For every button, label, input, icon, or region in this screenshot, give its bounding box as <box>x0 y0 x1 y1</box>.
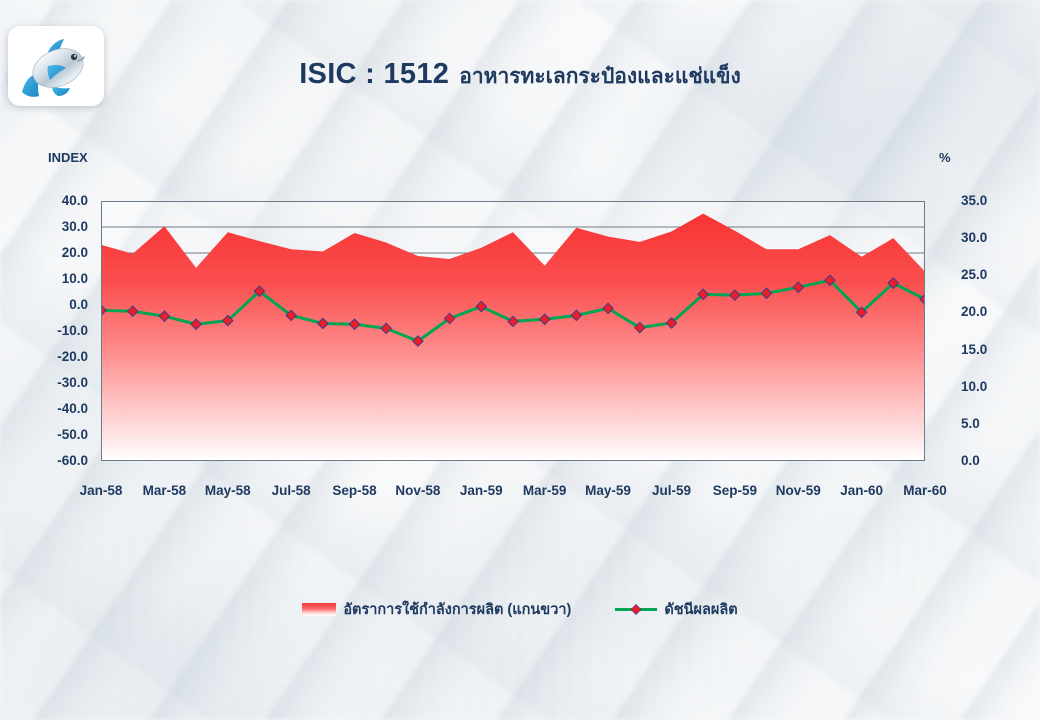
y-tick-label: 40.0 <box>8 194 88 208</box>
y2-tick-label: 20.0 <box>961 305 1031 319</box>
chart-svg <box>101 201 925 461</box>
y-tick-label: 30.0 <box>8 220 88 234</box>
title-name: อาหารทะเลกระป๋องและแช่แข็ง <box>459 65 741 88</box>
y-tick-label: -30.0 <box>8 376 88 390</box>
y2-tick-label: 35.0 <box>961 194 1031 208</box>
y2-tick-label: 10.0 <box>961 380 1031 394</box>
y-tick-label: 0.0 <box>8 298 88 312</box>
legend-item-production-index[interactable]: ดัชนีผลผลิต <box>615 598 737 621</box>
legend-label-capacity: อัตราการใช้กำลังการผลิต (แกนขวา) <box>343 598 571 621</box>
chart-legend: อัตราการใช้กำลังการผลิต (แกนขวา) ดัชนีผล… <box>0 598 1040 621</box>
y-tick-label: 20.0 <box>8 246 88 260</box>
x-tick-label: Jul-59 <box>652 483 691 498</box>
chart-plot-area <box>101 201 925 461</box>
title-code: ISIC : 1512 <box>299 58 449 90</box>
legend-label-production-index: ดัชนีผลผลิต <box>664 598 737 621</box>
y2-tick-label: 30.0 <box>961 231 1031 245</box>
right-axis-caption: % <box>939 150 951 165</box>
x-tick-label: Mar-60 <box>903 483 947 498</box>
area-swatch-icon <box>302 603 336 616</box>
y2-tick-label: 0.0 <box>961 454 1031 468</box>
x-tick-label: Mar-59 <box>523 483 567 498</box>
y-tick-label: 10.0 <box>8 272 88 286</box>
page-title: ISIC : 1512อาหารทะเลกระป๋องและแช่แข็ง <box>140 58 900 93</box>
x-tick-label: May-58 <box>205 483 251 498</box>
y-tick-label: -60.0 <box>8 454 88 468</box>
chart-page: ISIC : 1512อาหารทะเลกระป๋องและแช่แข็ง IN… <box>0 0 1040 720</box>
x-tick-label: Mar-58 <box>143 483 187 498</box>
x-tick-label: Jan-60 <box>840 483 883 498</box>
fish-icon <box>8 26 104 106</box>
y-tick-label: -10.0 <box>8 324 88 338</box>
x-tick-label: Nov-59 <box>776 483 821 498</box>
y2-tick-label: 15.0 <box>961 343 1031 357</box>
y-tick-label: -20.0 <box>8 350 88 364</box>
logo-card <box>8 26 104 106</box>
line-diamond-swatch-icon <box>615 603 657 616</box>
x-tick-label: Jan-59 <box>460 483 503 498</box>
x-tick-label: Jan-58 <box>80 483 123 498</box>
capacity-area-series <box>101 214 925 461</box>
x-tick-label: Sep-58 <box>332 483 376 498</box>
x-tick-label: Sep-59 <box>713 483 757 498</box>
y2-tick-label: 25.0 <box>961 268 1031 282</box>
legend-item-capacity[interactable]: อัตราการใช้กำลังการผลิต (แกนขวา) <box>302 598 571 621</box>
y-tick-label: -50.0 <box>8 428 88 442</box>
y-tick-label: -40.0 <box>8 402 88 416</box>
x-tick-label: Jul-58 <box>272 483 311 498</box>
x-tick-label: May-59 <box>585 483 631 498</box>
y2-tick-label: 5.0 <box>961 417 1031 431</box>
left-axis-caption: INDEX <box>48 150 88 165</box>
x-tick-label: Nov-58 <box>395 483 440 498</box>
